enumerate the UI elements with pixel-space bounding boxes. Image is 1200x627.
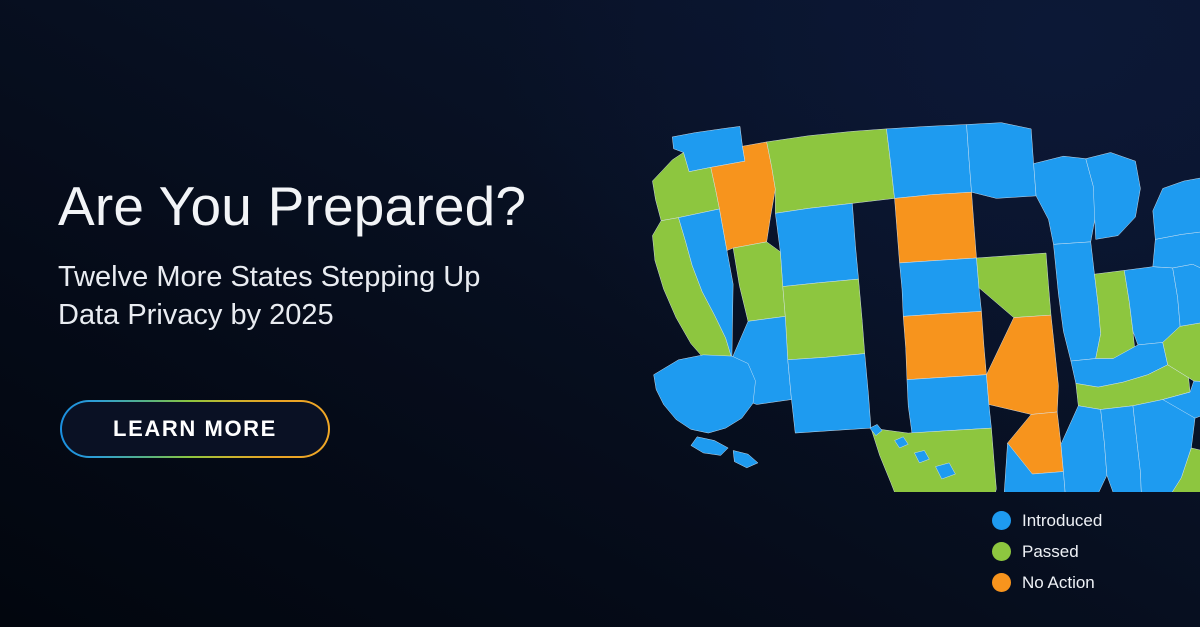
map-legend: Introduced Passed No Action [992, 505, 1192, 598]
subtitle: Twelve More States Stepping Up Data Priv… [58, 258, 638, 335]
state-il[interactable] [1053, 242, 1100, 361]
learn-more-button[interactable]: LEARN MORE [62, 402, 328, 456]
state-ok[interactable] [907, 375, 991, 433]
legend-item-passed: Passed [992, 536, 1192, 567]
state-mo[interactable] [986, 315, 1058, 414]
legend-item-introduced: Introduced [992, 505, 1192, 536]
privacy-legislation-banner: Are You Prepared? Twelve More States Ste… [0, 0, 1200, 627]
legend-label-passed: Passed [1022, 542, 1079, 562]
state-ut[interactable] [733, 242, 785, 321]
state-mn[interactable] [967, 123, 1037, 199]
legend-dot-introduced [992, 511, 1011, 530]
legend-label-introduced: Introduced [1022, 511, 1102, 531]
state-co[interactable] [783, 279, 865, 360]
state-nm[interactable] [788, 354, 871, 433]
state-mi[interactable] [1086, 152, 1141, 239]
state-ne[interactable] [900, 258, 982, 316]
state-mt[interactable] [767, 129, 895, 213]
page-title: Are You Prepared? [58, 178, 638, 236]
state-ny[interactable] [1153, 175, 1200, 240]
us-choropleth-map [604, 96, 1200, 492]
us-map-svg [604, 96, 1200, 492]
state-wi[interactable] [1034, 156, 1096, 244]
state-ak[interactable] [654, 355, 758, 468]
state-ms[interactable] [1061, 406, 1107, 492]
copy-block: Are You Prepared? Twelve More States Ste… [58, 178, 638, 335]
legend-dot-no-action [992, 573, 1011, 592]
state-tx[interactable] [871, 428, 996, 492]
state-sd[interactable] [895, 192, 977, 263]
state-ia[interactable] [977, 253, 1052, 318]
legend-label-no-action: No Action [1022, 573, 1095, 593]
state-nd[interactable] [886, 125, 971, 199]
learn-more-button-border: LEARN MORE [60, 400, 330, 458]
state-wy[interactable] [775, 203, 858, 286]
legend-dot-passed [992, 542, 1011, 561]
legend-item-no-action: No Action [992, 567, 1192, 598]
state-ks[interactable] [903, 311, 986, 379]
